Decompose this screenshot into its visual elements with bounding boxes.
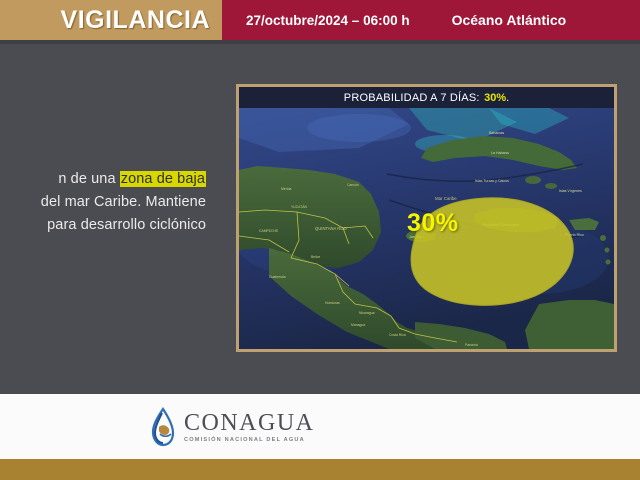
svg-text:Cancún: Cancún (347, 183, 359, 187)
header-datetime: 27/octubre/2024 – 06:00 h (246, 13, 410, 28)
svg-text:Bahamas: Bahamas (489, 131, 504, 135)
svg-text:Nicaragua: Nicaragua (359, 311, 375, 315)
svg-text:Belice: Belice (311, 255, 320, 259)
summary-text: n de una zona de baja del mar Caribe. Ma… (0, 168, 212, 237)
header-bar: VIGILANCIA 27/octubre/2024 – 06:00 h Océ… (0, 0, 640, 40)
footer: CONAGUA COMISIÓN NACIONAL DEL AGUA (0, 394, 640, 459)
page-title: VIGILANCIA (61, 6, 210, 35)
svg-text:Guatemala: Guatemala (269, 275, 286, 279)
conagua-subtitle: COMISIÓN NACIONAL DEL AGUA (184, 437, 315, 443)
summary-line-1: n de una zona de baja (0, 168, 206, 191)
svg-text:Islas Turcas y Caicos: Islas Turcas y Caicos (475, 179, 509, 183)
svg-text:Islas Vírgenes: Islas Vírgenes (559, 189, 582, 193)
conagua-water-icon (150, 407, 176, 447)
probability-area-label: 30% (407, 209, 459, 238)
conagua-logo: CONAGUA COMISIÓN NACIONAL DEL AGUA (150, 407, 315, 447)
svg-text:YUCATÁN: YUCATÁN (291, 205, 308, 209)
slide-root: VIGILANCIA 27/octubre/2024 – 06:00 h Océ… (0, 0, 640, 480)
svg-text:Costa Rica: Costa Rica (389, 333, 406, 337)
conagua-title: CONAGUA (184, 411, 315, 436)
svg-text:Honduras: Honduras (325, 301, 340, 305)
map-panel[interactable]: PROBABILIDAD A 7 DÍAS: 30%. (236, 84, 617, 352)
conagua-logo-text: CONAGUA COMISIÓN NACIONAL DEL AGUA (184, 411, 315, 443)
svg-text:La Habana: La Habana (491, 151, 509, 155)
svg-text:Panamá: Panamá (465, 343, 478, 347)
summary-line-3: para desarrollo ciclónico (0, 214, 206, 237)
header-title-band: VIGILANCIA (0, 0, 222, 40)
svg-text:Managua: Managua (351, 323, 365, 327)
map-caption-percent: 30% (484, 92, 506, 104)
svg-text:Mar Caribe: Mar Caribe (435, 196, 457, 201)
svg-text:Mérida: Mérida (281, 187, 291, 191)
svg-text:CAMPECHE: CAMPECHE (259, 229, 279, 233)
summary-line-1-pre: n de una (58, 171, 119, 187)
summary-line-1-highlight: zona de baja (120, 171, 206, 187)
summary-line-2: del mar Caribe. Mantiene (0, 191, 206, 214)
svg-text:QUINTANA ROO: QUINTANA ROO (315, 226, 348, 231)
map-caption-suffix: . (506, 92, 509, 104)
footer-accent-bar (0, 459, 640, 480)
header-info-band: 27/octubre/2024 – 06:00 h Océano Atlánti… (222, 0, 640, 40)
header-basin: Océano Atlántico (452, 12, 567, 28)
map-caption-text: PROBABILIDAD A 7 DÍAS: (344, 92, 480, 104)
map-caption: PROBABILIDAD A 7 DÍAS: 30%. (239, 87, 614, 108)
